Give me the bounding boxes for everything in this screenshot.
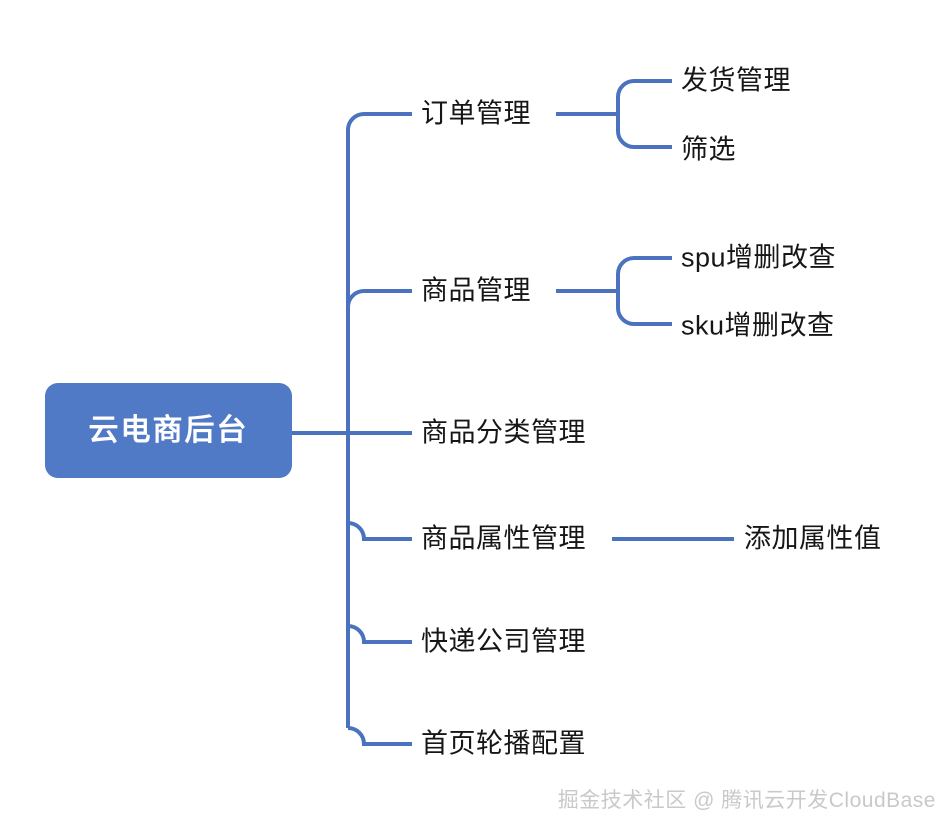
connector-branch-4 xyxy=(348,523,412,539)
connector-sub-2-child-1 xyxy=(618,258,672,274)
node-shipping-management[interactable]: 发货管理 xyxy=(681,68,791,95)
node-product-management[interactable]: 商品管理 xyxy=(421,278,531,305)
mindmap-canvas: 云电商后台 订单管理 发货管理 筛选 商品管理 spu增删改查 sku增删改查 … xyxy=(0,0,948,822)
node-order-management[interactable]: 订单管理 xyxy=(421,101,531,128)
node-product-category-management[interactable]: 商品分类管理 xyxy=(421,420,586,447)
connector-branch-1 xyxy=(348,114,412,130)
connector-sub-1-child-2 xyxy=(618,131,672,147)
connector-sub-2-child-2 xyxy=(618,308,672,324)
watermark-text: 掘金技术社区 @ 腾讯云开发CloudBase xyxy=(558,784,936,814)
node-add-attribute-value[interactable]: 添加属性值 xyxy=(744,526,882,553)
node-spu-crud[interactable]: spu增删改查 xyxy=(681,245,836,272)
connector-branch-6 xyxy=(348,728,412,744)
connector-sub-1-child-1 xyxy=(618,81,672,97)
node-express-company-management[interactable]: 快递公司管理 xyxy=(421,629,586,656)
node-product-attribute-management[interactable]: 商品属性管理 xyxy=(421,526,586,553)
node-sku-crud[interactable]: sku增删改查 xyxy=(681,313,835,340)
root-node[interactable]: 云电商后台 xyxy=(45,383,292,478)
node-homepage-carousel-config[interactable]: 首页轮播配置 xyxy=(421,731,586,758)
node-filter[interactable]: 筛选 xyxy=(681,137,736,164)
connector-branch-5 xyxy=(348,626,412,642)
root-node-label: 云电商后台 xyxy=(89,416,249,446)
connector-branch-2 xyxy=(348,291,412,307)
